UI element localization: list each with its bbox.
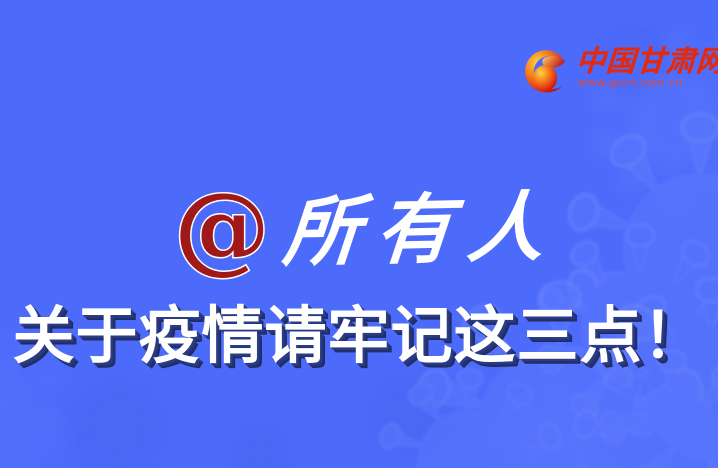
- poster-canvas: 中国甘肃网 www.gscn.com.cn @ 所有人 关于疫情请牢记这三点！: [0, 0, 718, 468]
- background-virus-foreground-right: [535, 114, 718, 468]
- gscn-swirl-icon: [520, 45, 572, 97]
- headline: @ 所有人: [0, 176, 718, 284]
- site-url: www.gscn.com.cn: [578, 77, 718, 90]
- at-symbol-icon: @: [174, 180, 270, 276]
- subtitle: 关于疫情请牢记这三点！: [0, 300, 718, 372]
- site-logo[interactable]: 中国甘肃网 www.gscn.com.cn: [520, 44, 698, 102]
- subtitle-text: 关于疫情请牢记这三点！: [12, 300, 705, 372]
- site-name: 中国甘肃网: [575, 46, 718, 76]
- headline-text: 所有人: [280, 186, 563, 274]
